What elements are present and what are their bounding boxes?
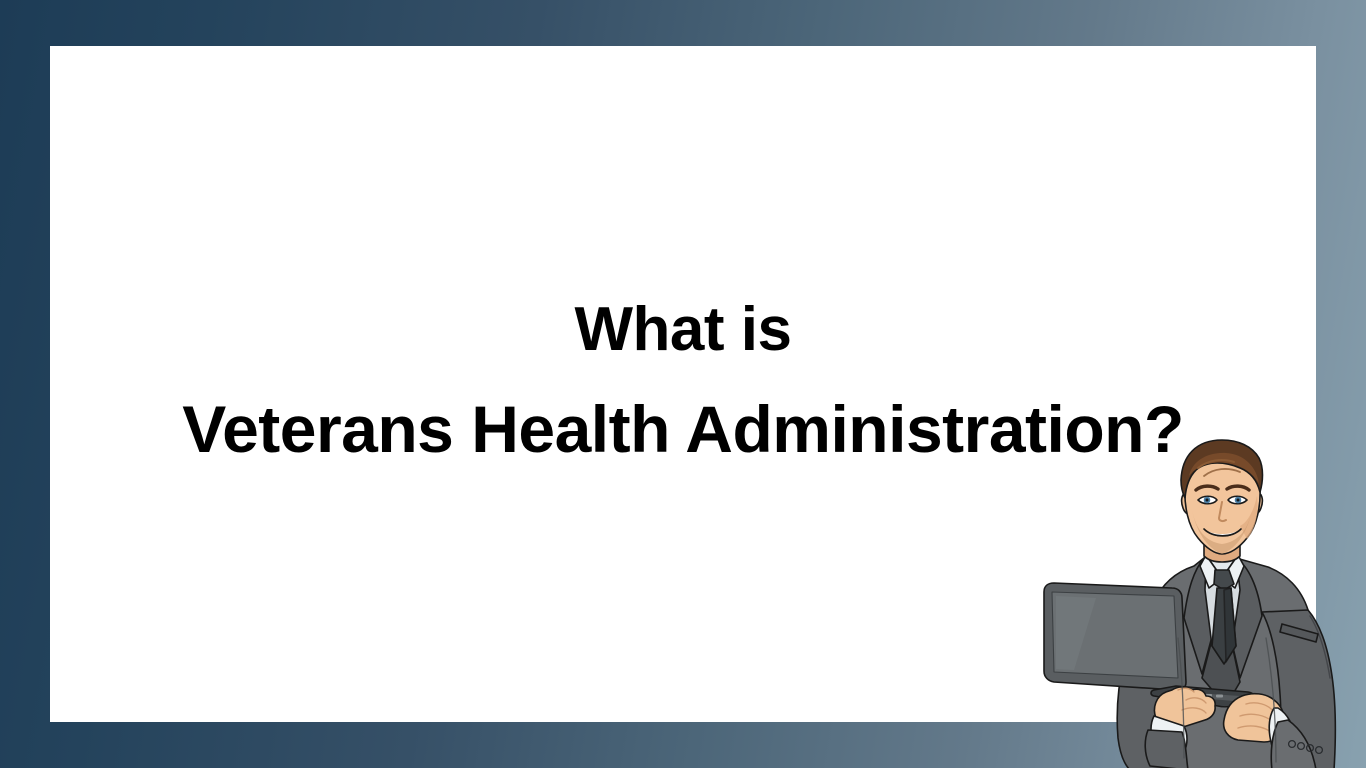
businessman-with-laptop-illustration xyxy=(1026,438,1366,768)
page-title-line-1: What is xyxy=(50,299,1316,361)
presentation-slide: What is Veterans Health Administration? xyxy=(0,0,1366,768)
